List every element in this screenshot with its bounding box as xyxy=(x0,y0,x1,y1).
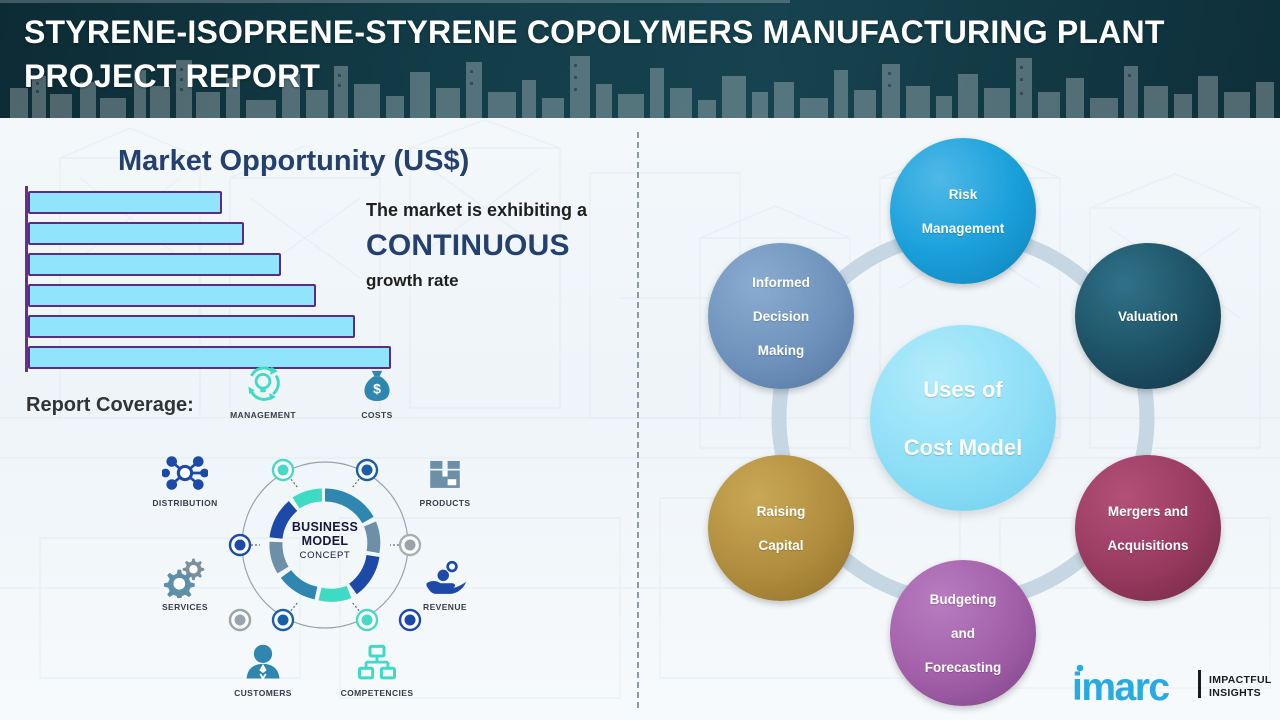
hand-coins-icon xyxy=(390,550,500,598)
box-package-icon xyxy=(390,446,500,494)
coverage-item-management[interactable]: MANAGEMENT xyxy=(208,358,318,420)
chart-y-axis xyxy=(25,186,28,372)
table-row xyxy=(28,315,355,338)
table-row xyxy=(28,253,281,276)
growth-statement: The market is exhibiting a CONTINUOUS gr… xyxy=(366,198,646,293)
coverage-label: COMPETENCIES xyxy=(322,688,432,698)
coverage-item-costs[interactable]: $ COSTS xyxy=(322,358,432,420)
coverage-item-competencies[interactable]: COMPETENCIES xyxy=(322,636,432,698)
org-chart-icon xyxy=(322,636,432,684)
coverage-item-customers[interactable]: CUSTOMERS xyxy=(208,636,318,698)
imarc-logo[interactable]: imarc IMPACTFUL INSIGHTS xyxy=(1068,660,1273,708)
coverage-item-revenue[interactable]: REVENUE xyxy=(390,550,500,612)
user-person-icon xyxy=(208,636,318,684)
coverage-label: MANAGEMENT xyxy=(208,410,318,420)
bubble-raising-capital[interactable]: Raising Capital xyxy=(708,455,854,601)
bubble-label: Raising Capital xyxy=(745,503,818,554)
coverage-label: CUSTOMERS xyxy=(208,688,318,698)
coverage-item-services[interactable]: SERVICES xyxy=(130,550,240,612)
bubble-label: Budgeting and Forecasting xyxy=(913,591,1014,676)
svg-text:INSIGHTS: INSIGHTS xyxy=(1209,687,1261,699)
bubble-risk-management[interactable]: Risk Management xyxy=(890,138,1036,284)
bubble-valuation[interactable]: Valuation xyxy=(1075,243,1221,389)
table-row xyxy=(28,191,222,214)
lightbulb-recycle-icon xyxy=(208,358,318,406)
left-panel: Market Opportunity (US$) The market is e… xyxy=(0,118,637,720)
header-accent-strip xyxy=(0,0,790,3)
bubble-label: Valuation xyxy=(1106,308,1190,325)
growth-line-1: The market is exhibiting a xyxy=(366,200,587,220)
svg-text:imarc: imarc xyxy=(1072,666,1169,708)
page-title: STYRENE-ISOPRENE-STYRENE COPOLYMERS MANU… xyxy=(24,10,1264,98)
svg-text:$: $ xyxy=(373,381,381,397)
bubble-center-uses-of-cost-model[interactable]: Uses of Cost Model xyxy=(870,325,1056,511)
gears-icon xyxy=(130,550,240,598)
bubble-mergers-acquisitions[interactable]: Mergers and Acquisitions xyxy=(1075,455,1221,601)
market-opportunity-title: Market Opportunity (US$) xyxy=(118,145,469,178)
growth-line-2: growth rate xyxy=(366,268,646,293)
report-coverage-diagram: BUSINESS MODEL CONCEPT xyxy=(140,368,510,718)
coverage-label: DISTRIBUTION xyxy=(130,498,240,508)
business-model-donut xyxy=(260,480,390,610)
bubble-label: Mergers and Acquisitions xyxy=(1095,503,1200,554)
bubble-label: Uses of Cost Model xyxy=(892,375,1035,462)
svg-text:IMPACTFUL: IMPACTFUL xyxy=(1209,674,1272,686)
header-banner: STYRENE-ISOPRENE-STYRENE COPOLYMERS MANU… xyxy=(0,0,1280,118)
market-opportunity-bar-chart xyxy=(25,186,415,372)
slide-root: STYRENE-ISOPRENE-STYRENE COPOLYMERS MANU… xyxy=(0,0,1280,720)
right-panel: Risk Management Valuation Mergers and Ac… xyxy=(637,118,1280,720)
growth-emphasis: CONTINUOUS xyxy=(366,225,646,267)
coverage-item-distribution[interactable]: DISTRIBUTION xyxy=(130,446,240,508)
coverage-label: SERVICES xyxy=(130,602,240,612)
table-row xyxy=(28,222,244,245)
coverage-label: PRODUCTS xyxy=(390,498,500,508)
bubble-budgeting-forecasting[interactable]: Budgeting and Forecasting xyxy=(890,560,1036,706)
coverage-label: COSTS xyxy=(322,410,432,420)
bubble-label: Informed Decision Making xyxy=(740,274,822,359)
coverage-label: REVENUE xyxy=(390,602,500,612)
bubble-informed-decision-making[interactable]: Informed Decision Making xyxy=(708,243,854,389)
coverage-item-products[interactable]: PRODUCTS xyxy=(390,446,500,508)
network-nodes-icon xyxy=(130,446,240,494)
money-bag-icon: $ xyxy=(322,358,432,406)
bubble-label: Risk Management xyxy=(910,186,1017,237)
table-row xyxy=(28,284,316,307)
